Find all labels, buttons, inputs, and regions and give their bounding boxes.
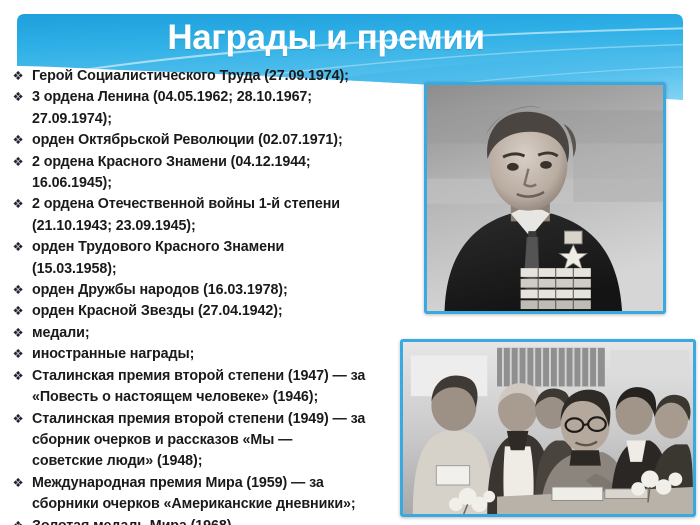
diamond-bullet-icon: ❖ [10, 323, 26, 344]
award-item: ❖3 ордена Ленина (04.05.1962; 28.10.1967… [8, 87, 428, 130]
slide: Награды и премии ❖Герой Социалистическог… [0, 0, 700, 525]
award-item-text: 2 ордена Красного Знамени (04.12.1944; [32, 152, 428, 173]
portrait-photo [424, 82, 666, 314]
award-item-continuation: (21.10.1943; 23.09.1945); [32, 216, 428, 237]
award-item: ❖орден Октябрьской Революции (02.07.1971… [8, 130, 428, 151]
award-item-text: Сталинская премия второй степени (1949) … [32, 409, 428, 430]
diamond-bullet-icon: ❖ [10, 409, 26, 430]
page-title: Награды и премии [0, 18, 700, 58]
award-item: ❖орден Трудового Красного Знамени(15.03.… [8, 237, 428, 280]
diamond-bullet-icon: ❖ [10, 366, 26, 387]
award-item-text: Международная премия Мира (1959) — за [32, 473, 428, 494]
award-item-text: 2 ордена Отечественной войны 1-й степени [32, 194, 428, 215]
award-item-text: орден Дружбы народов (16.03.1978); [32, 280, 428, 301]
award-item-text: 3 ордена Ленина (04.05.1962; 28.10.1967; [32, 87, 428, 108]
award-item: ❖Герой Социалистического Труда (27.09.19… [8, 66, 428, 87]
award-item-text: Золотая медаль Мира (1968). [32, 516, 428, 525]
award-item: ❖Сталинская премия второй степени (1949)… [8, 409, 428, 473]
book-signing-photo-graphic [403, 342, 693, 514]
award-item: ❖орден Дружбы народов (16.03.1978); [8, 280, 428, 301]
award-item-continuation: «Повесть о настоящем человеке» (1946); [32, 387, 428, 408]
award-item: ❖орден Красной Звезды (27.04.1942); [8, 301, 428, 322]
award-item-continuation: советские люди» (1948); [32, 451, 428, 472]
book-signing-photo [400, 339, 696, 517]
portrait-photo-graphic [427, 85, 663, 311]
award-item: ❖иностранные награды; [8, 344, 428, 365]
award-item: ❖медали; [8, 323, 428, 344]
diamond-bullet-icon: ❖ [10, 194, 26, 215]
diamond-bullet-icon: ❖ [10, 516, 26, 525]
award-item: ❖Сталинская премия второй степени (1947)… [8, 366, 428, 409]
award-item-text: Герой Социалистического Труда (27.09.197… [32, 66, 428, 87]
award-item-continuation: сборник очерков и рассказов «Мы — [32, 430, 428, 451]
diamond-bullet-icon: ❖ [10, 152, 26, 173]
diamond-bullet-icon: ❖ [10, 344, 26, 365]
diamond-bullet-icon: ❖ [10, 301, 26, 322]
diamond-bullet-icon: ❖ [10, 87, 26, 108]
award-item-continuation: сборники очерков «Американские дневники»… [32, 494, 428, 515]
award-item-text: медали; [32, 323, 428, 344]
diamond-bullet-icon: ❖ [10, 473, 26, 494]
diamond-bullet-icon: ❖ [10, 237, 26, 258]
award-item-text: орден Октябрьской Революции (02.07.1971)… [32, 130, 428, 151]
awards-list: ❖Герой Социалистического Труда (27.09.19… [8, 66, 428, 525]
award-item-text: орден Трудового Красного Знамени [32, 237, 428, 258]
award-item-continuation: (15.03.1958); [32, 259, 428, 280]
award-item-text: иностранные награды; [32, 344, 428, 365]
award-item: ❖2 ордена Красного Знамени (04.12.1944;1… [8, 152, 428, 195]
award-item: ❖Золотая медаль Мира (1968). [8, 516, 428, 525]
award-item: ❖Международная премия Мира (1959) — засб… [8, 473, 428, 516]
award-item-continuation: 27.09.1974); [32, 109, 428, 130]
award-item-text: орден Красной Звезды (27.04.1942); [32, 301, 428, 322]
diamond-bullet-icon: ❖ [10, 130, 26, 151]
diamond-bullet-icon: ❖ [10, 66, 26, 87]
award-item-text: Сталинская премия второй степени (1947) … [32, 366, 428, 387]
award-item: ❖2 ордена Отечественной войны 1-й степен… [8, 194, 428, 237]
award-item-continuation: 16.06.1945); [32, 173, 428, 194]
diamond-bullet-icon: ❖ [10, 280, 26, 301]
